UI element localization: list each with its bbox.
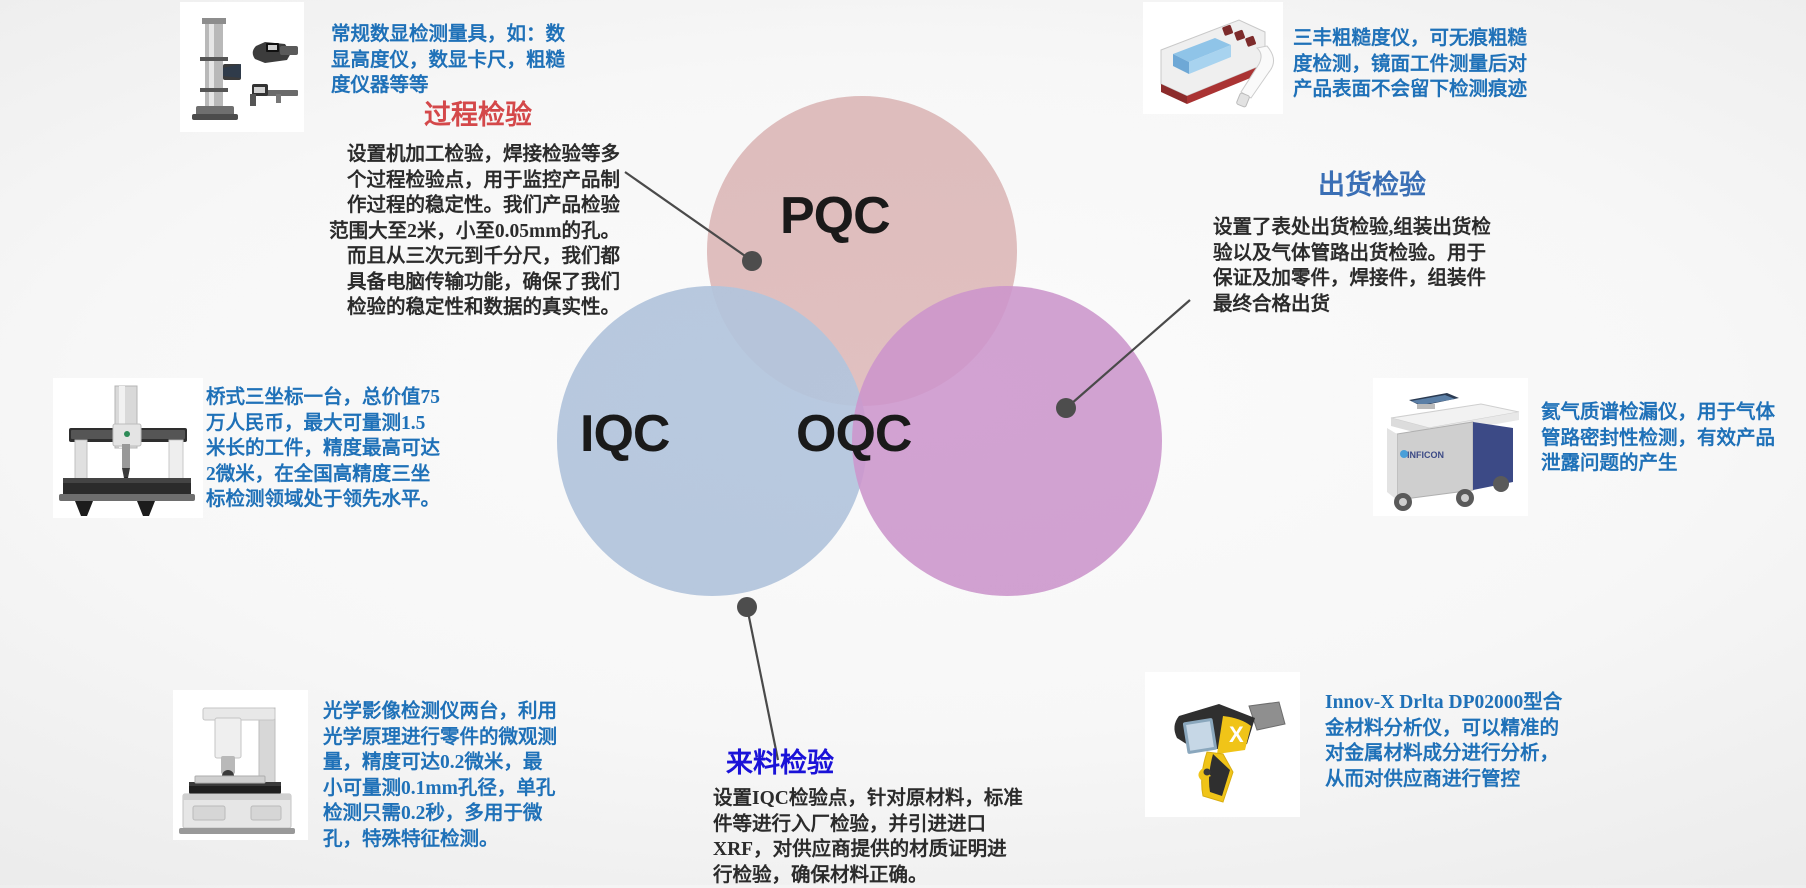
caption-optical-measuring: 光学影像检测仪两台，利用 光学原理进行零件的微观测 量，精度可达0.2微米，最 …: [323, 699, 573, 852]
caption-bridge-cmm: 桥式三坐标一台，总价值75 万人民币，最大可量测1.5 米长的工件，精度最高可达…: [206, 385, 456, 513]
xrf-analyzer-icon: X: [1145, 672, 1300, 817]
photo-bridge-cmm: [53, 378, 203, 518]
optical-measuring-icon: [173, 690, 308, 840]
height-gauge-icon: [180, 2, 304, 132]
slide-canvas: PQC IQC OQC: [0, 0, 1806, 885]
venn-label-iqc: IQC: [580, 404, 669, 464]
body-pqc: 设置机加工检验，焊接检验等多 个过程检验点，用于监控产品制 作过程的稳定性。我们…: [280, 142, 620, 321]
photo-leak-detector: INFICON: [1373, 378, 1528, 516]
svg-text:X: X: [1229, 722, 1244, 747]
caption-roughness-tester: 三丰粗糙度仪，可无痕粗糙 度检测，镜面工件测量后对 产品表面不会留下检测痕迹: [1293, 26, 1543, 103]
heading-oqc: 出货检验: [1318, 170, 1426, 200]
body-oqc: 设置了表处出货检验,组装出货检 验以及气体管路出货检验。用于 保证及加零件，焊接…: [1213, 215, 1573, 317]
venn-svg: [552, 86, 1172, 606]
venn-label-oqc: OQC: [796, 404, 911, 464]
photo-optical-measuring: [173, 690, 308, 840]
connector-line-iqc: [748, 612, 778, 760]
heading-iqc: 来料检验: [726, 748, 834, 778]
caption-xrf-analyzer: Innov-X Drlta DP02000型合 金材料分析仪，可以精准的 对金属…: [1325, 690, 1580, 792]
body-iqc: 设置IQC检验点，针对原材料，标准 件等进行入厂检验，并引进进口 XRF，对供应…: [713, 786, 1083, 888]
caption-digital-gauges: 常规数显检测量具，如：数 显高度仪，数显卡尺，粗糙 度仪器等等: [331, 22, 581, 99]
photo-digital-gauges: [180, 2, 304, 132]
venn-label-pqc: PQC: [780, 186, 890, 246]
svg-text:INFICON: INFICON: [1407, 450, 1444, 460]
photo-roughness-tester: [1143, 2, 1283, 114]
cmm-icon: [53, 378, 203, 518]
photo-xrf-analyzer: X: [1145, 672, 1300, 817]
roughness-tester-icon: [1143, 2, 1283, 114]
caption-leak-detector: 氦气质谱检漏仪，用于气体 管路密封性检测，有效产品 泄露问题的产生: [1541, 400, 1796, 477]
venn-diagram: PQC IQC OQC: [552, 86, 1172, 606]
leak-detector-icon: INFICON: [1373, 378, 1528, 516]
heading-pqc: 过程检验: [424, 100, 532, 130]
